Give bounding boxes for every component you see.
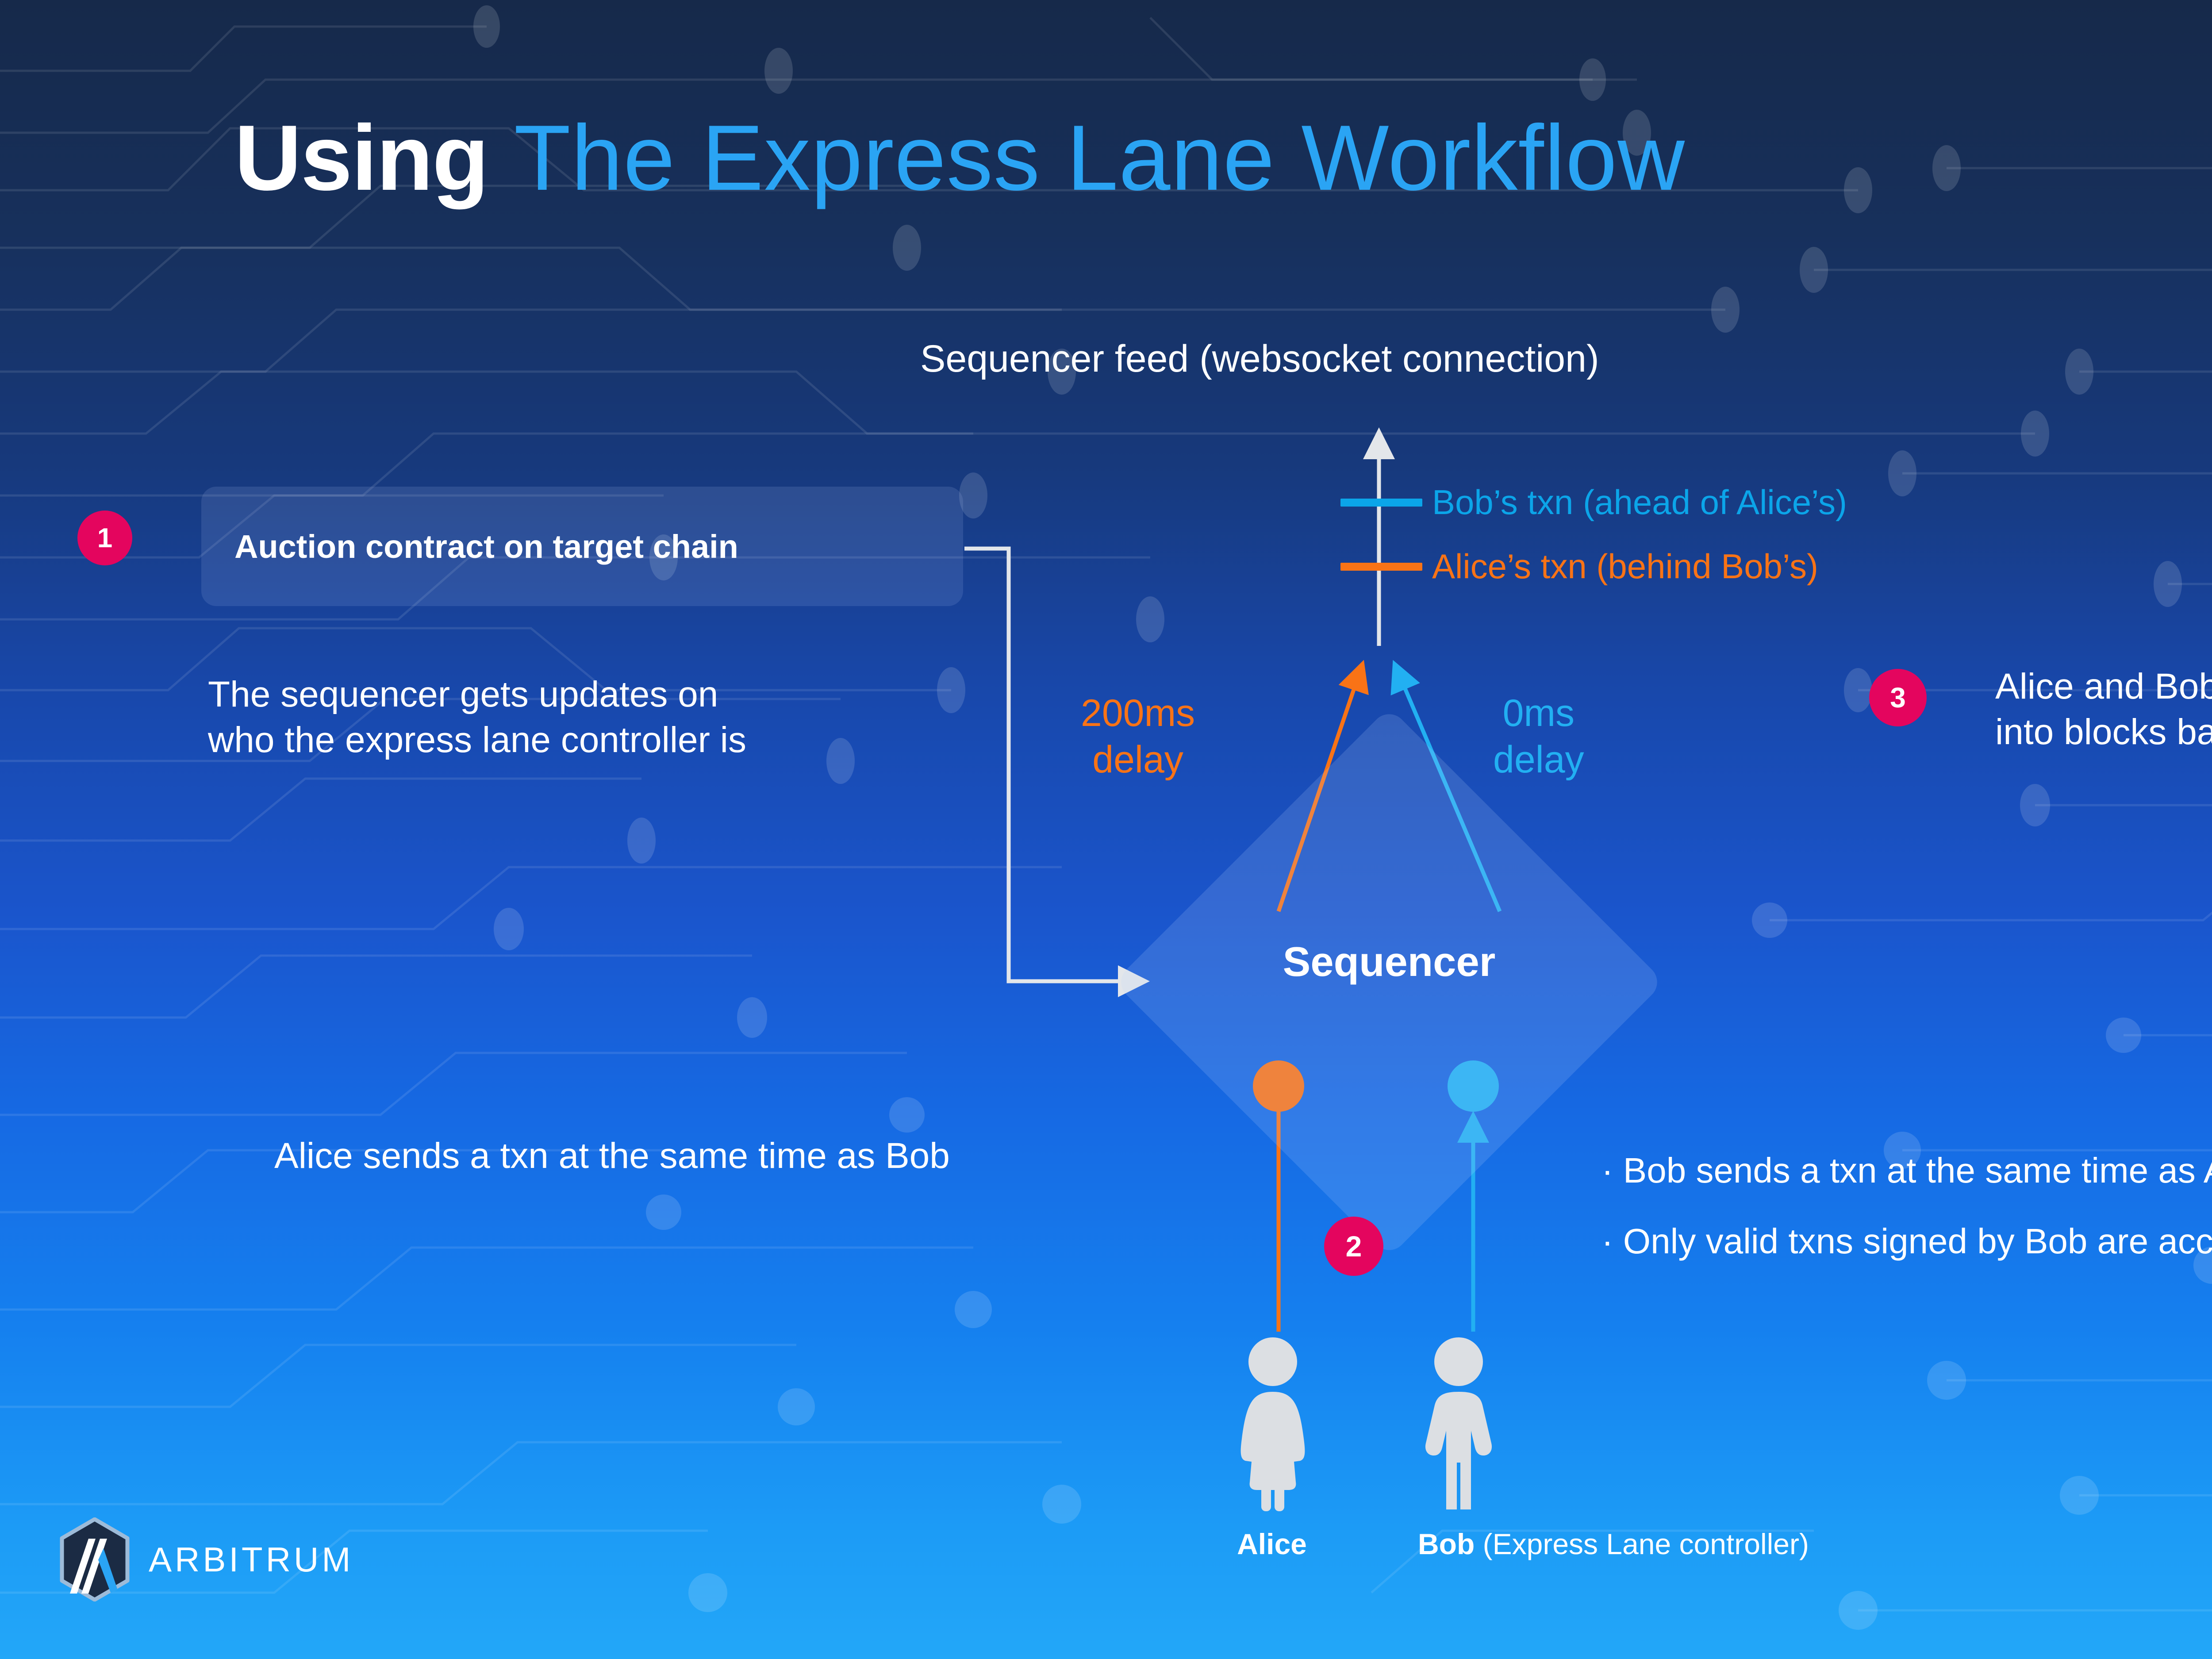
arbitrum-wordmark: ARBITRUM xyxy=(149,1540,353,1580)
title-light: The Express Lane Workflow xyxy=(514,106,1685,210)
bob-name-text: Bob xyxy=(1418,1528,1475,1560)
bob-delay-label: 0ms delay xyxy=(1493,690,1584,783)
legend-dash-bob xyxy=(1340,499,1422,507)
legend-dash-alice xyxy=(1340,563,1422,571)
infographic-canvas: Using The Express Lane Workflow Sequence… xyxy=(0,0,2212,1659)
auction-contract-label: Auction contract on target chain xyxy=(234,528,738,565)
bob-delay-unit: delay xyxy=(1493,737,1584,783)
sequencer-node-label: Sequencer xyxy=(1194,938,1584,986)
bob-delay-value: 0ms xyxy=(1493,690,1584,737)
alice-figure-icon xyxy=(1232,1336,1314,1513)
ordering-paragraph: Alice and Bob's txns get ordered into bl… xyxy=(1995,664,2212,755)
step-badge-1: 1 xyxy=(77,511,132,565)
sequencer-updates-paragraph: The sequencer gets updates on who the ex… xyxy=(208,672,746,763)
ordering-line-1: Alice and Bob's txns get ordered xyxy=(1995,664,2212,709)
legend-item-bob: Bob’s txn (ahead of Alice’s) xyxy=(1340,482,1847,522)
legend-item-alice: Alice’s txn (behind Bob’s) xyxy=(1340,546,1818,587)
bob-notes: · Bob sends a txn at the same time as Al… xyxy=(1601,1135,2212,1277)
alice-name-label: Alice xyxy=(1232,1527,1312,1561)
alice-delay-unit: delay xyxy=(1081,737,1195,783)
bob-name-label: Bob (Express Lane controller) xyxy=(1418,1527,1809,1561)
alice-delay-label: 200ms delay xyxy=(1081,690,1195,783)
sequencer-updates-line-2: who the express lane controller is xyxy=(208,717,746,763)
bob-note-1: · Bob sends a txn at the same time as Al… xyxy=(1601,1135,2212,1206)
arbitrum-logo: ARBITRUM xyxy=(58,1517,353,1601)
ordering-line-2: into blocks based on timestamp xyxy=(1995,709,2212,755)
alice-note: Alice sends a txn at the same time as Bo… xyxy=(274,1135,950,1177)
alice-delay-value: 200ms xyxy=(1081,690,1195,737)
step-badge-2: 2 xyxy=(1324,1217,1383,1276)
title-bold: Using xyxy=(234,106,488,210)
legend-label-alice: Alice’s txn (behind Bob’s) xyxy=(1432,546,1818,587)
bob-role-text: (Express Lane controller) xyxy=(1475,1528,1809,1560)
sequencer-feed-label: Sequencer feed (websocket connection) xyxy=(920,337,1599,381)
legend-label-bob: Bob’s txn (ahead of Alice’s) xyxy=(1432,482,1847,522)
auction-contract-panel: Auction contract on target chain xyxy=(201,487,963,606)
step-badge-3: 3 xyxy=(1869,669,1927,726)
sequencer-updates-line-1: The sequencer gets updates on xyxy=(208,672,746,717)
bob-note-2: · Only valid txns signed by Bob are acce… xyxy=(1601,1206,2212,1277)
page-title: Using The Express Lane Workflow xyxy=(234,111,1685,204)
bob-figure-icon xyxy=(1418,1336,1500,1513)
arbitrum-mark-icon xyxy=(58,1517,132,1601)
connector-layer xyxy=(0,0,2212,1659)
